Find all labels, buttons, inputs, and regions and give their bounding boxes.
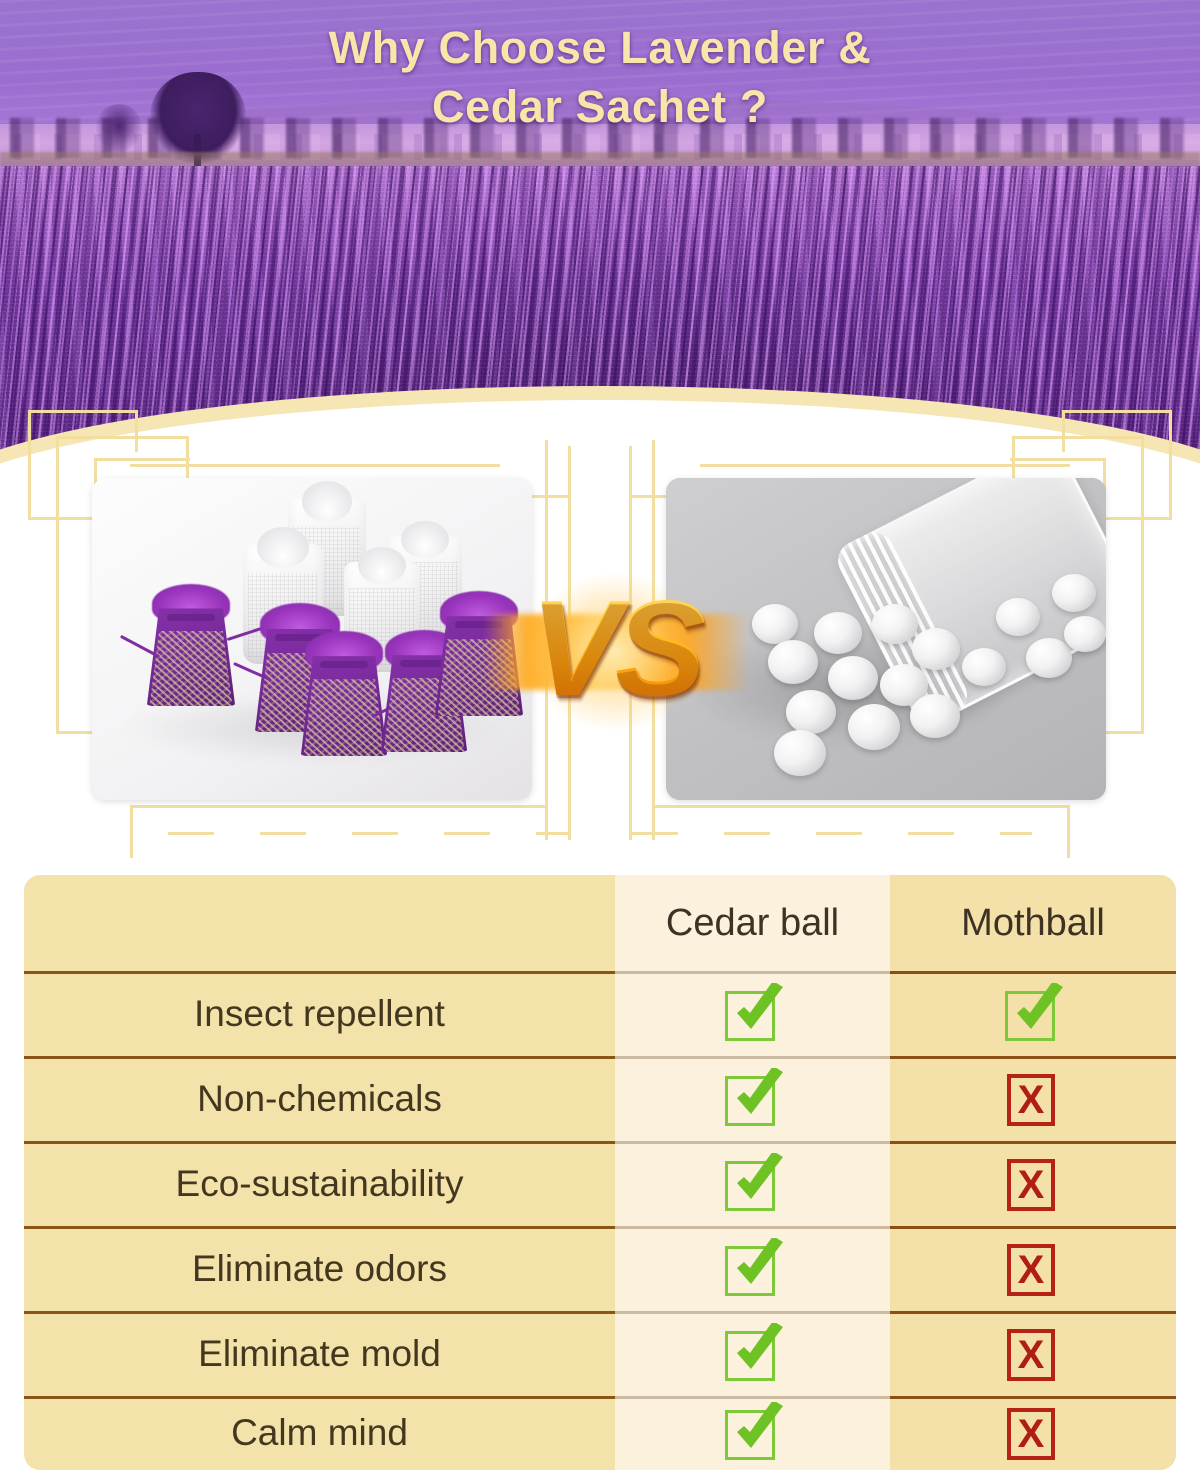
cross-icon: X [1002,1155,1064,1213]
mothball [872,604,918,644]
mothball [752,604,798,644]
column-header-cedar-ball: Cedar ball [615,875,890,971]
column-header-mothball: Mothball [890,875,1176,971]
comparison-table: Cedar ball Mothball Insect repellent Non… [24,875,1176,1470]
mothball [786,690,836,734]
versus-label: VS [500,558,730,738]
check-icon [722,1240,784,1298]
mothball [996,598,1040,636]
page-title: Why Choose Lavender & Cedar Sachet ? [0,18,1200,137]
lavender-sachet [298,628,390,756]
table-cell-mothball: X [890,1311,1176,1396]
cross-icon: X [1002,1070,1064,1128]
lavender-sachet [144,581,238,706]
mothball [814,612,862,654]
table-cell-mothball: X [890,1396,1176,1470]
mothball [912,628,960,670]
check-icon [722,1325,784,1383]
table-row-label: Eliminate odors [24,1226,615,1311]
page-title-line-1: Why Choose Lavender & [0,18,1200,77]
mothball [848,704,900,750]
cross-icon: X [1002,1325,1064,1383]
mothball [962,648,1006,686]
table-row-label: Eco-sustainability [24,1141,615,1226]
table-cell-mothball: X [890,1226,1176,1311]
table-cell-mothball [890,971,1176,1056]
table-row-label: Non-chemicals [24,1056,615,1141]
mothball [1064,616,1106,652]
check-icon [722,1155,784,1213]
check-icon [722,985,784,1043]
table-cell-cedar-ball [615,1056,890,1141]
cross-icon: X [1002,1404,1064,1462]
cross-icon: X [1002,1240,1064,1298]
table-row-label: Insect repellent [24,971,615,1056]
check-icon [722,1404,784,1462]
table-cell-mothball: X [890,1056,1176,1141]
table-cell-cedar-ball [615,971,890,1056]
mothball [1052,574,1096,612]
table-cell-cedar-ball [615,1226,890,1311]
versus-badge: VS [500,562,730,742]
mothball [768,640,818,684]
mothball [774,730,826,776]
mothball [1026,638,1072,678]
table-cell-cedar-ball [615,1396,890,1470]
table-cell-cedar-ball [615,1141,890,1226]
check-icon [722,1070,784,1128]
table-cell-cedar-ball [615,1311,890,1396]
mothball [828,656,878,700]
check-icon [1002,985,1064,1043]
page-title-line-2: Cedar Sachet ? [0,77,1200,136]
table-cell-mothball: X [890,1141,1176,1226]
mothball [910,694,960,738]
table-row-label: Calm mind [24,1396,615,1470]
table-row-label: Eliminate mold [24,1311,615,1396]
product-photo-sachets [92,478,532,800]
